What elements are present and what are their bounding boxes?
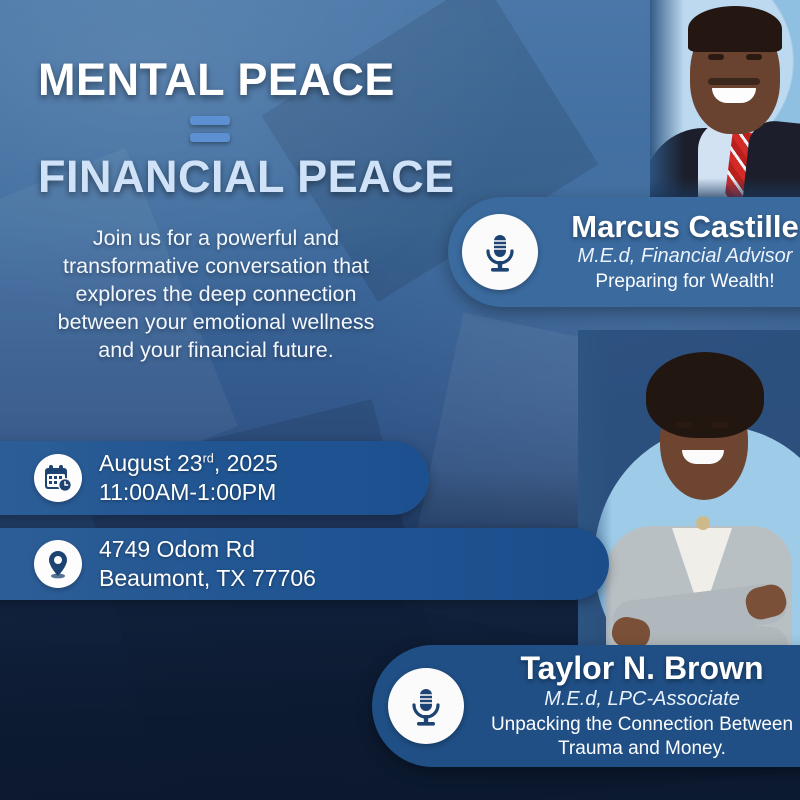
microphone-icon xyxy=(388,668,464,744)
event-time: 11:00AM-1:00PM xyxy=(99,478,278,507)
speaker-name: Taylor N. Brown xyxy=(482,651,800,686)
event-date: August 23rd, 2025 xyxy=(99,449,278,478)
event-flyer: MENTAL PEACE FINANCIAL PEACE Join us for… xyxy=(0,0,800,800)
photo-edge-blend-left xyxy=(578,330,612,662)
headline-line-1: MENTAL PEACE xyxy=(38,57,488,102)
speaker-tagline: Preparing for Wealth! xyxy=(556,270,800,294)
speaker-card-marcus-castille: Marcus Castille M.E.d, Financial Advisor… xyxy=(448,197,800,307)
location-pill: 4749 Odom Rd Beaumont, TX 77706 xyxy=(0,528,609,600)
headline-block: MENTAL PEACE FINANCIAL PEACE xyxy=(38,57,488,199)
date-time-pill: August 23rd, 2025 11:00AM-1:00PM xyxy=(0,441,429,515)
calendar-clock-icon xyxy=(34,454,82,502)
marcus-castille-photo xyxy=(650,0,800,204)
microphone-icon xyxy=(462,214,538,290)
equals-icon xyxy=(190,116,230,142)
speaker-credentials: M.E.d, Financial Advisor xyxy=(556,243,800,270)
map-pin-icon xyxy=(34,540,82,588)
address-line-1: 4749 Odom Rd xyxy=(99,535,316,564)
speaker-tagline: Unpacking the Connection Between Trauma … xyxy=(482,713,800,761)
taylor-n-brown-photo xyxy=(578,330,800,662)
address-line-2: Beaumont, TX 77706 xyxy=(99,564,316,593)
event-description: Join us for a powerful and transformativ… xyxy=(40,225,392,365)
speaker-name: Marcus Castille xyxy=(556,210,800,243)
headline-line-2: FINANCIAL PEACE xyxy=(38,154,488,199)
speaker-card-taylor-n-brown: Taylor N. Brown M.E.d, LPC-Associate Unp… xyxy=(372,645,800,767)
photo-edge-blend-left xyxy=(650,0,684,204)
speaker-credentials: M.E.d, LPC-Associate xyxy=(482,686,800,713)
